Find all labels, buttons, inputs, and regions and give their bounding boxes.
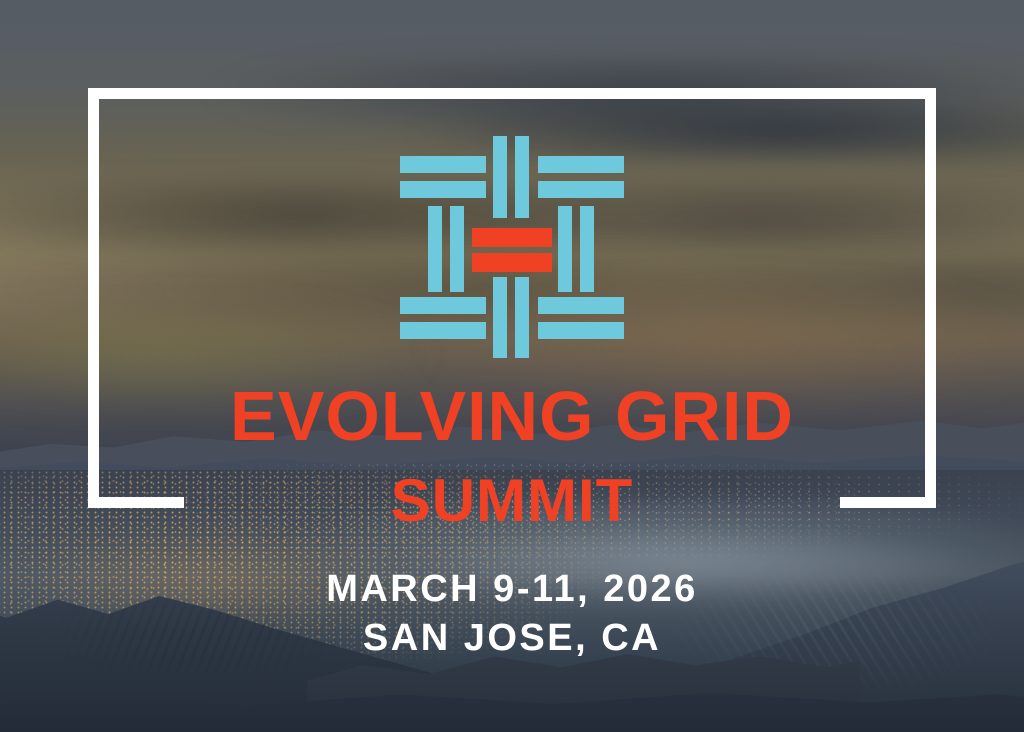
event-location: SAN JOSE, CA xyxy=(0,619,1024,657)
event-subtitle: SUMMIT xyxy=(0,471,1024,531)
logo-bar-top-center-vertical-1 xyxy=(493,136,507,218)
logo-bar-center-horizontal-red-1 xyxy=(472,228,552,247)
logo-bar-mid-left-vertical-1 xyxy=(428,206,442,292)
event-poster: EVOLVING GRID SUMMIT MARCH 9-11, 2026 SA… xyxy=(0,0,1024,732)
event-title: EVOLVING GRID xyxy=(0,381,1024,451)
logo-bar-top-center-vertical-2 xyxy=(515,136,529,218)
logo-bar-top-left-horizontal-2 xyxy=(400,181,486,198)
event-date: MARCH 9-11, 2026 xyxy=(0,570,1024,608)
logo-bar-mid-left-vertical-2 xyxy=(450,206,464,292)
logo-bar-mid-right-vertical-2 xyxy=(580,206,594,292)
logo-bar-bottom-center-vertical-1 xyxy=(493,277,507,358)
logo-bar-top-left-horizontal-1 xyxy=(400,156,486,173)
woven-grid-logo xyxy=(396,136,628,358)
logo-bar-top-right-horizontal-2 xyxy=(538,181,624,198)
logo-bar-center-horizontal-red-2 xyxy=(472,253,552,272)
logo-bar-mid-right-vertical-1 xyxy=(558,206,572,292)
logo-bar-bottom-left-horizontal-1 xyxy=(400,297,486,314)
logo-bar-bottom-right-horizontal-1 xyxy=(538,297,624,314)
logo-bar-top-right-horizontal-1 xyxy=(538,156,624,173)
logo-bar-bottom-left-horizontal-2 xyxy=(400,322,486,339)
logo-bar-bottom-right-horizontal-2 xyxy=(538,322,624,339)
logo-bar-bottom-center-vertical-2 xyxy=(515,277,529,358)
